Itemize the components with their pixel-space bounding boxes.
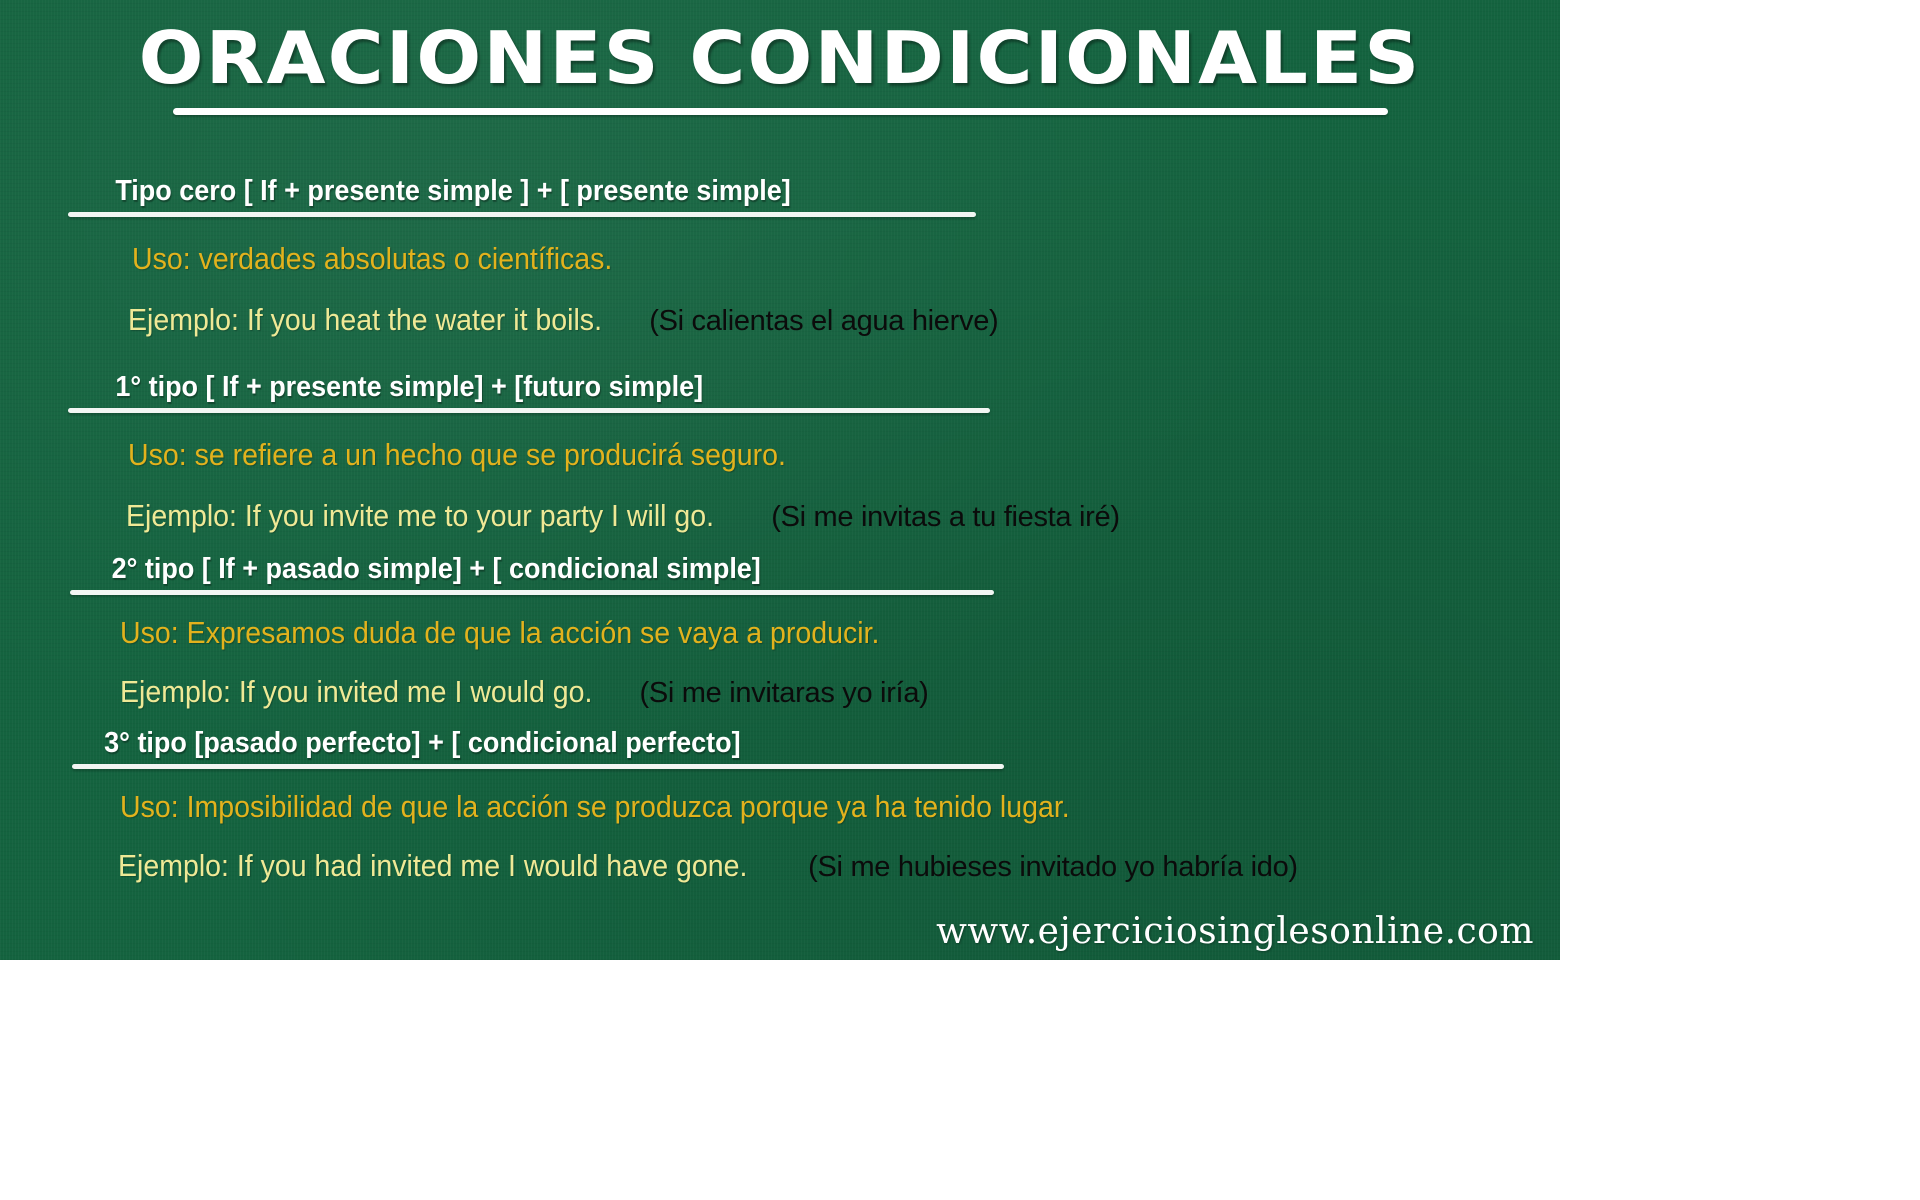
section-segundo-tipo: 2° tipo [ If + pasado simple] + [ condic… xyxy=(0,554,1560,710)
section-heading-wrap: 2° tipo [ If + pasado simple] + [ condic… xyxy=(0,554,1560,595)
section-traduccion: (Si me invitas a tu fiesta iré) xyxy=(771,501,1120,534)
section-heading: Tipo cero [ If + presente simple ] + [ p… xyxy=(0,176,1451,208)
section-underline-rule xyxy=(70,590,994,595)
section-ejemplo: Ejemplo: If you invited me I would go. xyxy=(120,674,592,710)
section-underline-rule xyxy=(68,212,976,217)
section-ejemplo-row: Ejemplo: If you had invited me I would h… xyxy=(118,848,1560,884)
page-title: ORACIONES CONDICIONALES xyxy=(0,22,1560,94)
poster-canvas: ORACIONES CONDICIONALES Tipo cero [ If +… xyxy=(0,0,1560,960)
section-tercer-tipo: 3° tipo [pasado perfecto] + [ condiciona… xyxy=(0,728,1560,884)
section-ejemplo: Ejemplo: If you invite me to your party … xyxy=(126,498,714,534)
section-heading-wrap: Tipo cero [ If + presente simple ] + [ p… xyxy=(0,176,1560,217)
section-uso: Uso: Expresamos duda de que la acción se… xyxy=(120,617,1445,648)
section-tipo-cero: Tipo cero [ If + presente simple ] + [ p… xyxy=(0,176,1560,338)
section-heading: 1° tipo [ If + presente simple] + [futur… xyxy=(0,372,1451,404)
section-traduccion: (Si calientas el agua hierve) xyxy=(649,305,998,338)
title-block: ORACIONES CONDICIONALES xyxy=(0,22,1560,115)
section-ejemplo-row: Ejemplo: If you invite me to your party … xyxy=(126,498,1560,534)
section-heading: 2° tipo [ If + pasado simple] + [ condic… xyxy=(0,554,1451,586)
section-heading-wrap: 3° tipo [pasado perfecto] + [ condiciona… xyxy=(0,728,1560,769)
section-primer-tipo: 1° tipo [ If + presente simple] + [futur… xyxy=(0,372,1560,534)
section-underline-rule xyxy=(72,764,1004,769)
section-uso: Uso: verdades absolutas o científicas. xyxy=(132,243,1446,274)
section-ejemplo-row: Ejemplo: If you invited me I would go. (… xyxy=(120,674,1560,710)
section-uso: Uso: se refiere a un hecho que se produc… xyxy=(128,439,1445,470)
title-underline-rule xyxy=(173,108,1388,115)
section-ejemplo: Ejemplo: If you heat the water it boils. xyxy=(128,302,602,338)
section-traduccion: (Si me hubieses invitado yo habría ido) xyxy=(808,851,1298,884)
section-ejemplo-row: Ejemplo: If you heat the water it boils.… xyxy=(128,302,1560,338)
section-underline-rule xyxy=(68,408,990,413)
section-heading: 3° tipo [pasado perfecto] + [ condiciona… xyxy=(0,728,1451,760)
section-heading-wrap: 1° tipo [ If + presente simple] + [futur… xyxy=(0,372,1560,413)
section-ejemplo: Ejemplo: If you had invited me I would h… xyxy=(118,848,747,884)
section-uso: Uso: Imposibilidad de que la acción se p… xyxy=(120,791,1445,822)
section-traduccion: (Si me invitaras yo iría) xyxy=(639,677,928,710)
sections-container: Tipo cero [ If + presente simple ] + [ p… xyxy=(0,176,1560,884)
website-url[interactable]: www.ejerciciosinglesonline.com xyxy=(936,911,1534,952)
